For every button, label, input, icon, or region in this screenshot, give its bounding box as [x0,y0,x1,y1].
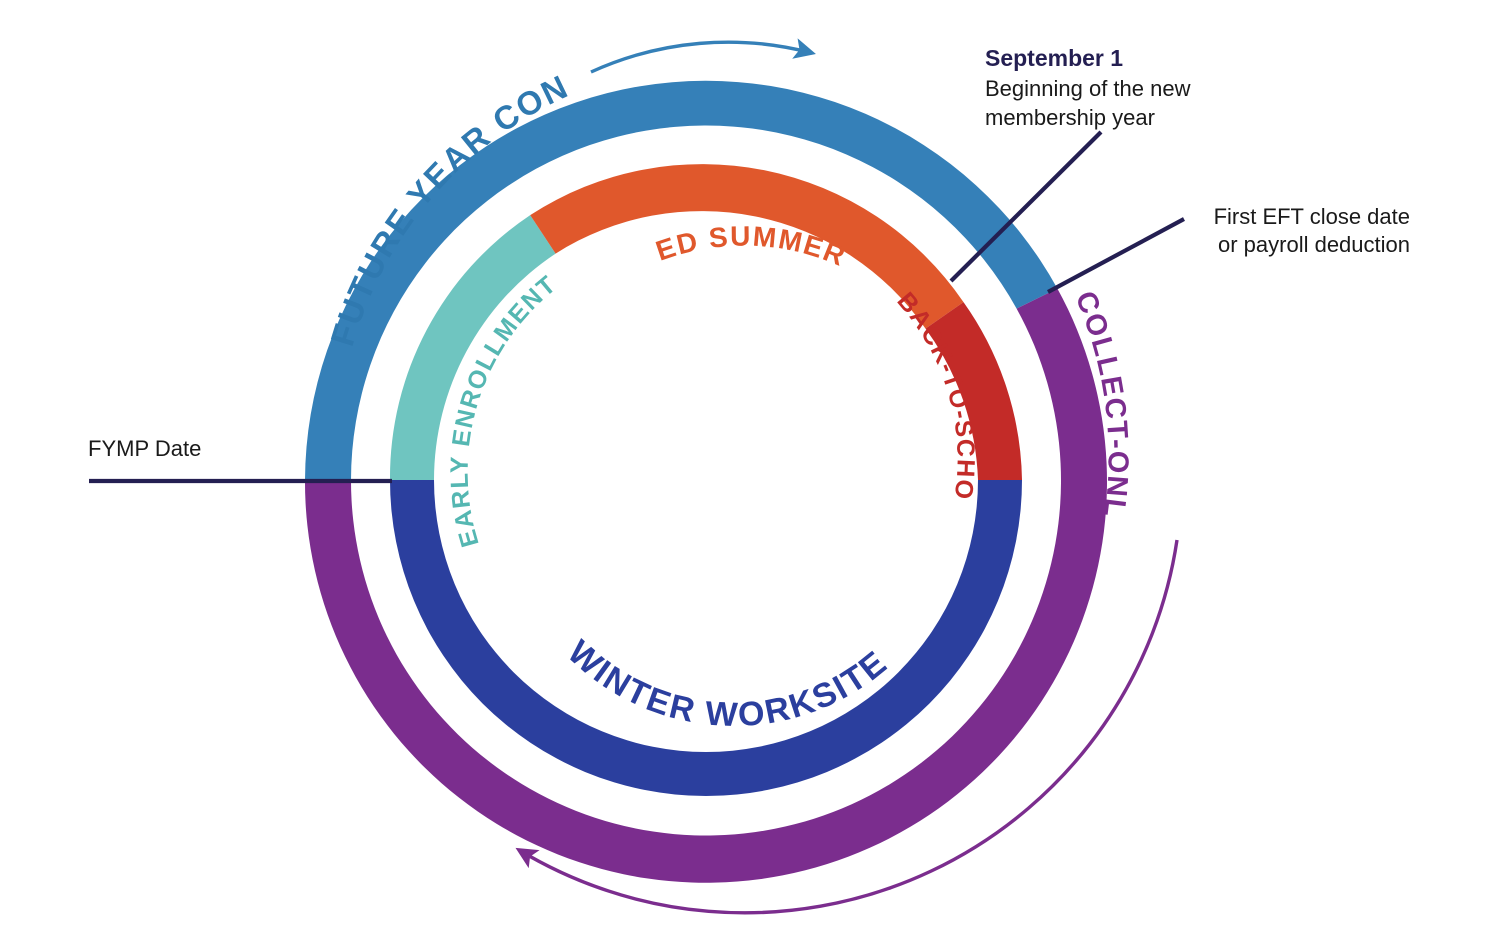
clockwise-arrow-top-icon [591,42,812,72]
callout-september-line-1: Beginning of the new [985,75,1191,103]
cycle-diagram: FUTURE YEAR CONVERSION COLLECT-ONLY EARL… [0,0,1500,934]
callout-first-eft: First EFT close date or payroll deductio… [1070,203,1410,259]
callout-first-eft-line-2: or payroll deduction [1070,231,1410,259]
callout-fymp-date-label: FYMP Date [88,435,201,463]
callout-september-title: September 1 [985,44,1191,73]
callout-september-line-2: membership year [985,104,1191,132]
callout-first-eft-line-1: First EFT close date [1070,203,1410,231]
diagram-canvas: FUTURE YEAR CONVERSION COLLECT-ONLY EARL… [0,0,1500,934]
callout-september-1: September 1 Beginning of the new members… [985,44,1191,132]
inner-segment-winter-worksite[interactable] [390,480,1022,796]
callout-fymp-date: FYMP Date [88,435,201,463]
